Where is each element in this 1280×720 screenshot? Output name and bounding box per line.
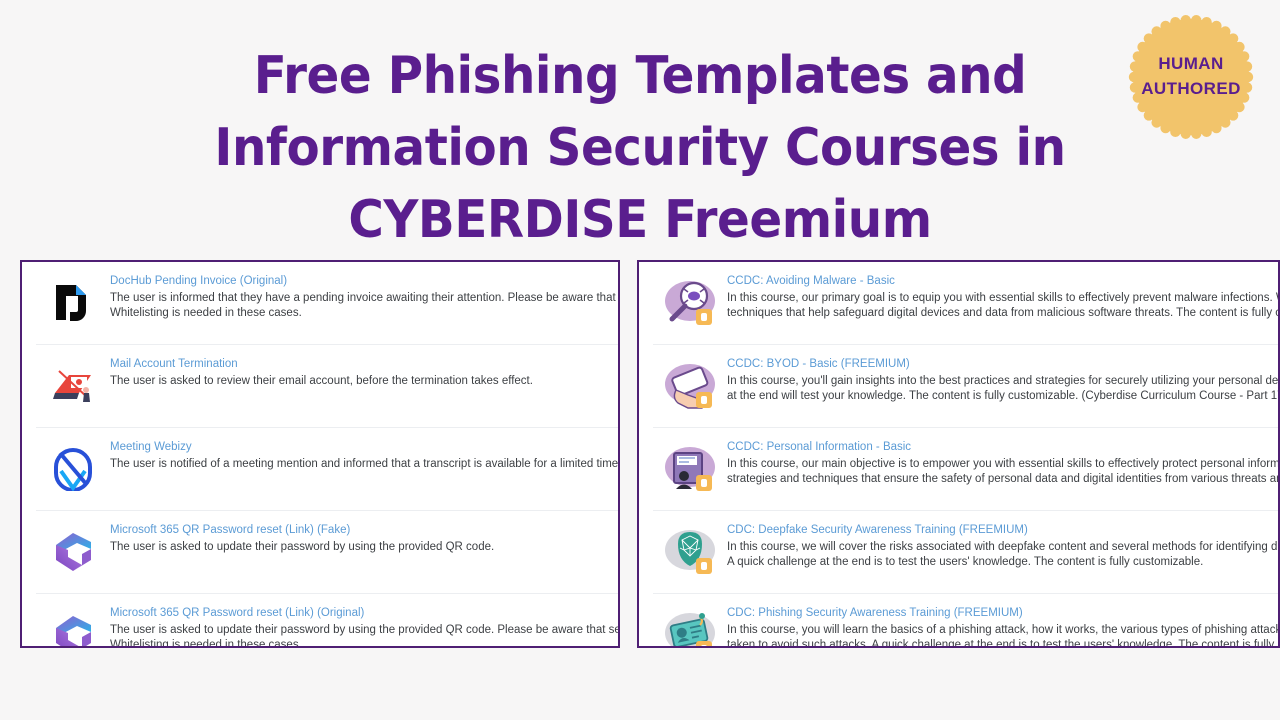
list-item-description: In this course, our primary goal is to e…	[727, 291, 1280, 320]
dochub-logo-icon	[36, 272, 110, 334]
list-item-description: The user is asked to review their email …	[110, 374, 620, 389]
list-item[interactable]: Meeting WebizyThe user is notified of a …	[36, 428, 620, 511]
page-title: Free Phishing Templates and Information …	[0, 40, 1280, 256]
list-item-body: CDC: Deepfake Security Awareness Trainin…	[727, 521, 1280, 569]
list-item[interactable]: Mail Account TerminationThe user is aske…	[36, 345, 620, 428]
list-item-body: CCDC: BYOD - Basic (FREEMIUM)In this cou…	[727, 355, 1280, 403]
phishing-templates-list: DocHub Pending Invoice (Original)The use…	[22, 262, 620, 648]
list-item[interactable]: CCDC: BYOD - Basic (FREEMIUM)In this cou…	[653, 345, 1280, 428]
list-item-body: Meeting WebizyThe user is notified of a …	[110, 438, 620, 472]
id-card-icon	[653, 604, 727, 648]
list-item-description: The user is informed that they have a pe…	[110, 291, 620, 320]
human-authored-badge: HUMAN AUTHORED	[1127, 13, 1255, 141]
list-item-title-link[interactable]: DocHub Pending Invoice (Original)	[110, 274, 620, 288]
list-item[interactable]: Microsoft 365 QR Password reset (Link) (…	[36, 594, 620, 648]
list-item-description: In this course, you will learn the basic…	[727, 623, 1280, 648]
list-item-body: CCDC: Personal Information - BasicIn thi…	[727, 438, 1280, 486]
list-item-title-link[interactable]: CCDC: Avoiding Malware - Basic	[727, 274, 1280, 288]
list-item-body: CDC: Phishing Security Awareness Trainin…	[727, 604, 1280, 648]
list-item-title-link[interactable]: Microsoft 365 QR Password reset (Link) (…	[110, 606, 620, 620]
list-item[interactable]: Microsoft 365 QR Password reset (Link) (…	[36, 511, 620, 594]
security-courses-list: CCDC: Avoiding Malware - BasicIn this co…	[639, 262, 1280, 648]
list-item[interactable]: CDC: Deepfake Security Awareness Trainin…	[653, 511, 1280, 594]
list-item[interactable]: CDC: Phishing Security Awareness Trainin…	[653, 594, 1280, 648]
deepfake-face-mesh-icon	[653, 521, 727, 583]
microsoft-365-logo-icon	[36, 521, 110, 583]
badge-line-1: HUMAN	[1127, 51, 1255, 76]
mail-account-termination-icon	[36, 355, 110, 417]
list-item-description: The user is asked to update their passwo…	[110, 623, 620, 648]
hand-holding-phone-icon	[653, 355, 727, 417]
list-item-title-link[interactable]: Meeting Webizy	[110, 440, 620, 454]
list-item-title-link[interactable]: CDC: Deepfake Security Awareness Trainin…	[727, 523, 1280, 537]
list-item[interactable]: CCDC: Personal Information - BasicIn thi…	[653, 428, 1280, 511]
badge-line-2: AUTHORED	[1127, 76, 1255, 101]
list-item-title-link[interactable]: CCDC: Personal Information - Basic	[727, 440, 1280, 454]
list-item-body: CCDC: Avoiding Malware - BasicIn this co…	[727, 272, 1280, 320]
human-authored-badge-text: HUMAN AUTHORED	[1127, 51, 1255, 101]
webizy-logo-icon	[36, 438, 110, 500]
security-courses-panel[interactable]: CCDC: Avoiding Malware - BasicIn this co…	[637, 260, 1280, 648]
list-item-title-link[interactable]: Microsoft 365 QR Password reset (Link) (…	[110, 523, 620, 537]
personal-info-folder-icon	[653, 438, 727, 500]
list-item-description: In this course, our main objective is to…	[727, 457, 1280, 486]
list-item-title-link[interactable]: CDC: Phishing Security Awareness Trainin…	[727, 606, 1280, 620]
page-title-line-3: CYBERDISE Freemium	[184, 184, 1095, 256]
list-item-body: Mail Account TerminationThe user is aske…	[110, 355, 620, 389]
microsoft-365-logo-icon	[36, 604, 110, 648]
page-title-line-2: Information Security Courses in	[184, 112, 1095, 184]
list-item-title-link[interactable]: Mail Account Termination	[110, 357, 620, 371]
magnifier-malware-icon	[653, 272, 727, 334]
page-title-line-1: Free Phishing Templates and	[184, 40, 1095, 112]
list-item-description: In this course, you'll gain insights int…	[727, 374, 1280, 403]
list-item-body: Microsoft 365 QR Password reset (Link) (…	[110, 521, 620, 555]
list-item[interactable]: CCDC: Avoiding Malware - BasicIn this co…	[653, 262, 1280, 345]
list-item-description: The user is notified of a meeting mentio…	[110, 457, 620, 472]
list-item-body: Microsoft 365 QR Password reset (Link) (…	[110, 604, 620, 648]
list-item-description: The user is asked to update their passwo…	[110, 540, 620, 555]
list-item-title-link[interactable]: CCDC: BYOD - Basic (FREEMIUM)	[727, 357, 1280, 371]
list-item-description: In this course, we will cover the risks …	[727, 540, 1280, 569]
phishing-templates-panel[interactable]: DocHub Pending Invoice (Original)The use…	[20, 260, 620, 648]
list-item-body: DocHub Pending Invoice (Original)The use…	[110, 272, 620, 320]
list-item[interactable]: DocHub Pending Invoice (Original)The use…	[36, 262, 620, 345]
